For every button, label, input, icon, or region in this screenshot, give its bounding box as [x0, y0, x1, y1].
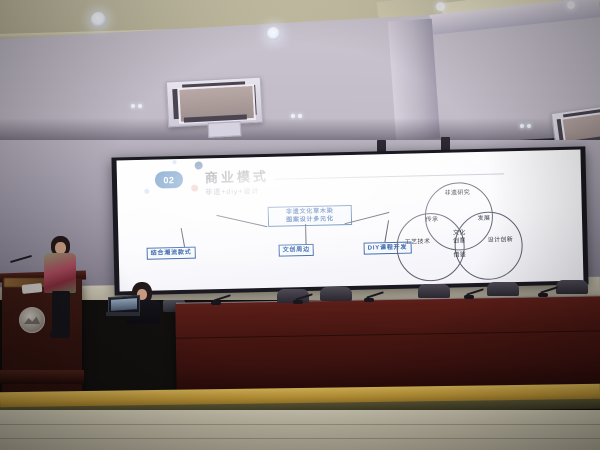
venn-overlap-label-1: 传承 — [424, 217, 440, 225]
projection-screen[interactable]: 02 商业模式 非遗+diy+设计 非遗文化草木染 图案设计多元化 结合潮流款式… — [117, 150, 584, 292]
chair — [487, 282, 519, 296]
connector-left-hook — [181, 228, 185, 247]
ceiling-light-pair-icon — [131, 104, 143, 109]
decor-dot-navy-icon — [195, 161, 203, 169]
presenter-shoe — [50, 331, 70, 338]
laptop-base — [106, 312, 140, 316]
chair — [418, 284, 450, 298]
venn-center-line2: 创意 — [448, 238, 470, 246]
downlight-icon — [436, 2, 445, 11]
diagram-branch-node-1: 结合潮流款式 — [147, 247, 196, 260]
venn-overlap-label-3: 借鉴 — [451, 252, 469, 260]
slide-section-badge: 02 — [155, 171, 183, 189]
floor-tile-line — [0, 424, 600, 425]
lectern-base — [0, 370, 84, 384]
floor — [0, 410, 600, 450]
presenter-legs — [52, 291, 70, 333]
conference-hall-photo: 02 商业模式 非遗+diy+设计 非遗文化草木染 图案设计多元化 结合潮流款式… — [0, 0, 600, 450]
floor-tile-line — [0, 438, 600, 439]
desk-panel-seam — [176, 330, 600, 339]
title-divider — [274, 173, 504, 179]
connector-middle — [305, 224, 306, 244]
center-node-line2: 图案设计多元化 — [272, 215, 348, 225]
downlight-icon — [91, 12, 106, 27]
slide-title: 商业模式 — [205, 166, 269, 187]
panel-desk — [175, 296, 600, 395]
venn-label-left: 工艺技术 — [402, 239, 432, 247]
ceiling-light-pair-icon — [520, 124, 532, 129]
microphone-base — [364, 298, 374, 302]
decor-dot-lightblue-icon — [173, 160, 177, 164]
diagram-center-node: 非遗文化草木染 图案设计多元化 — [268, 205, 352, 227]
venn-diagram: 非遗研究 工艺技术 设计创新 传承 发展 借鉴 文化 创意 — [393, 181, 523, 280]
microphone-base — [538, 293, 548, 297]
ceiling-ac-duct — [208, 121, 242, 138]
microphone-base — [293, 300, 303, 304]
ceiling-ac-unit-icon — [166, 77, 263, 128]
connector-left — [217, 215, 268, 227]
institution-seal-icon — [19, 307, 45, 333]
chair — [556, 280, 588, 294]
ceiling-light-pair-icon — [291, 114, 303, 119]
chair — [320, 287, 352, 301]
slide-subtitle: 非遗+diy+设计 — [205, 186, 259, 197]
downlight-icon — [567, 1, 575, 9]
microphone-base — [464, 295, 474, 299]
connector-right-hook — [384, 220, 389, 242]
venn-overlap-label-2: 发展 — [476, 216, 492, 224]
presenter-torso — [44, 253, 76, 293]
diagram-branch-node-2: 文创周边 — [279, 244, 314, 257]
downlight-icon — [267, 27, 280, 40]
venn-center-label: 文化 创意 — [448, 230, 470, 246]
decor-dot-pink-icon — [191, 185, 198, 192]
decor-dot-lightblue-icon — [144, 189, 149, 194]
venn-label-top: 非遗研究 — [441, 190, 473, 198]
venn-label-right: 设计创新 — [484, 237, 516, 245]
microphone-base — [211, 301, 221, 305]
